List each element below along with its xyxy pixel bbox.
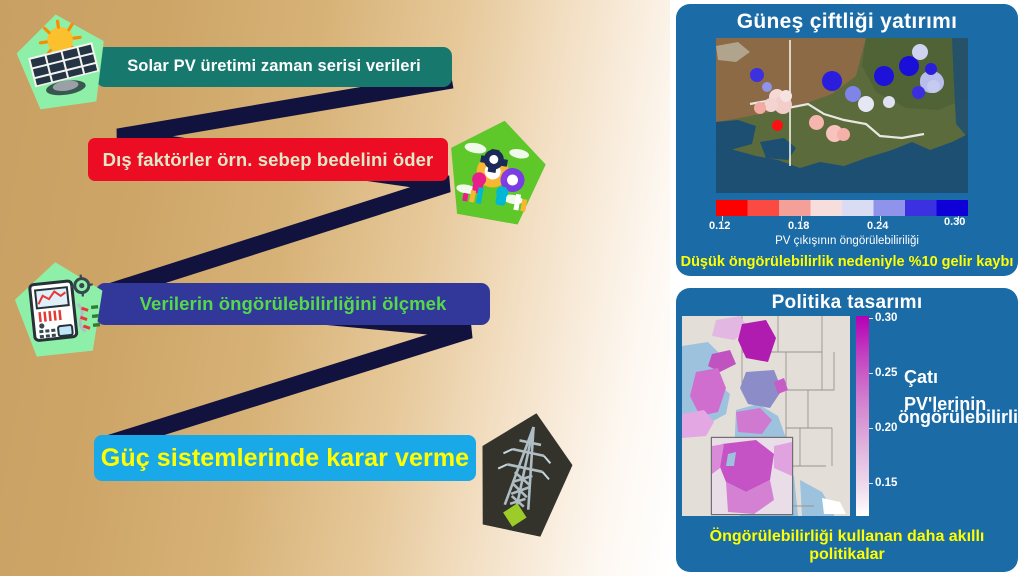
colorbar-rooftop-predictability (856, 316, 869, 516)
data-point (837, 128, 850, 141)
data-point (754, 102, 766, 114)
colorbar-tick (869, 428, 873, 429)
colorbar-tick (869, 373, 873, 374)
flow-node-external-factors[interactable]: Dış faktörler örn. sebep bedelini öder (88, 138, 448, 181)
colorbar-tick (869, 483, 873, 484)
data-point (874, 66, 894, 86)
panel-bottom-title: Politika tasarımı (676, 292, 1018, 314)
flow-node-measure-predictability[interactable]: Verilerin öngörülebilirliğini ölçmek (96, 283, 490, 325)
data-point (925, 63, 937, 75)
flow-node-measure-predictability-label: Verilerin öngörülebilirliğini ölçmek (134, 294, 453, 313)
flow-node-external-factors-label: Dış faktörler örn. sebep bedelini öder (97, 150, 440, 169)
data-point (750, 68, 764, 82)
flow-node-data[interactable]: Solar PV üretimi zaman serisi verileri (96, 47, 452, 87)
data-point (912, 44, 928, 60)
solar-panel-icon (12, 8, 112, 111)
colorbar-tick-label: 0.20 (875, 422, 897, 434)
data-point (764, 98, 778, 112)
colorbar-tick-label: 0.12 (709, 220, 730, 232)
data-point (772, 120, 783, 131)
legend-title-line2: öngörülebilirliği (898, 404, 1018, 431)
data-point (883, 96, 895, 108)
flow-node-data-label: Solar PV üretimi zaman serisi verileri (121, 58, 427, 75)
colorbar-predictability (716, 200, 968, 216)
gears-people-icon (440, 112, 552, 227)
colorbar-tick (869, 318, 873, 319)
data-point (780, 90, 792, 102)
flow-diagram-area: Solar PV üretimi zaman serisi verileri D… (0, 0, 670, 576)
data-point (809, 115, 824, 130)
flow-node-power-system-decision[interactable]: Güç sistemlerinde karar verme (94, 435, 476, 481)
data-point (858, 96, 874, 112)
panel-top-title: Güneş çiftliği yatırımı (676, 10, 1018, 34)
control-dashboard-icon (11, 258, 108, 359)
panel-solar-farm-investment: Güneş çiftliği yatırımı (676, 4, 1018, 276)
data-point (822, 71, 842, 91)
panel-policy-design: Politika tasarımı (676, 288, 1018, 572)
colorbar-tick-label: 0.24 (867, 220, 888, 232)
colorbar-tick-label: 0.30 (875, 312, 897, 324)
colorbar-tick-label: 0.30 (944, 216, 965, 228)
data-point (927, 80, 940, 93)
panel-bottom-caption: Öngörülebilirliği kullanan daha akıllı p… (676, 528, 1018, 564)
choropleth-map-figure (682, 316, 850, 516)
colorbar-tick-label: 0.18 (788, 220, 809, 232)
panel-top-caption: Düşük öngörülebilirlik nedeniyle %10 gel… (676, 254, 1018, 270)
slide-canvas: Solar PV üretimi zaman serisi verileri D… (0, 0, 1024, 576)
colorbar-axis-label: PV çıkışının öngörülebiliriliği (676, 235, 1018, 247)
data-point (912, 86, 925, 99)
satellite-map-figure (716, 38, 968, 193)
colorbar-tick-label: 0.15 (875, 477, 897, 489)
colorbar-tick-label: 0.25 (875, 367, 897, 379)
flow-node-power-system-decision-label: Güç sistemlerinde karar verme (95, 445, 475, 471)
